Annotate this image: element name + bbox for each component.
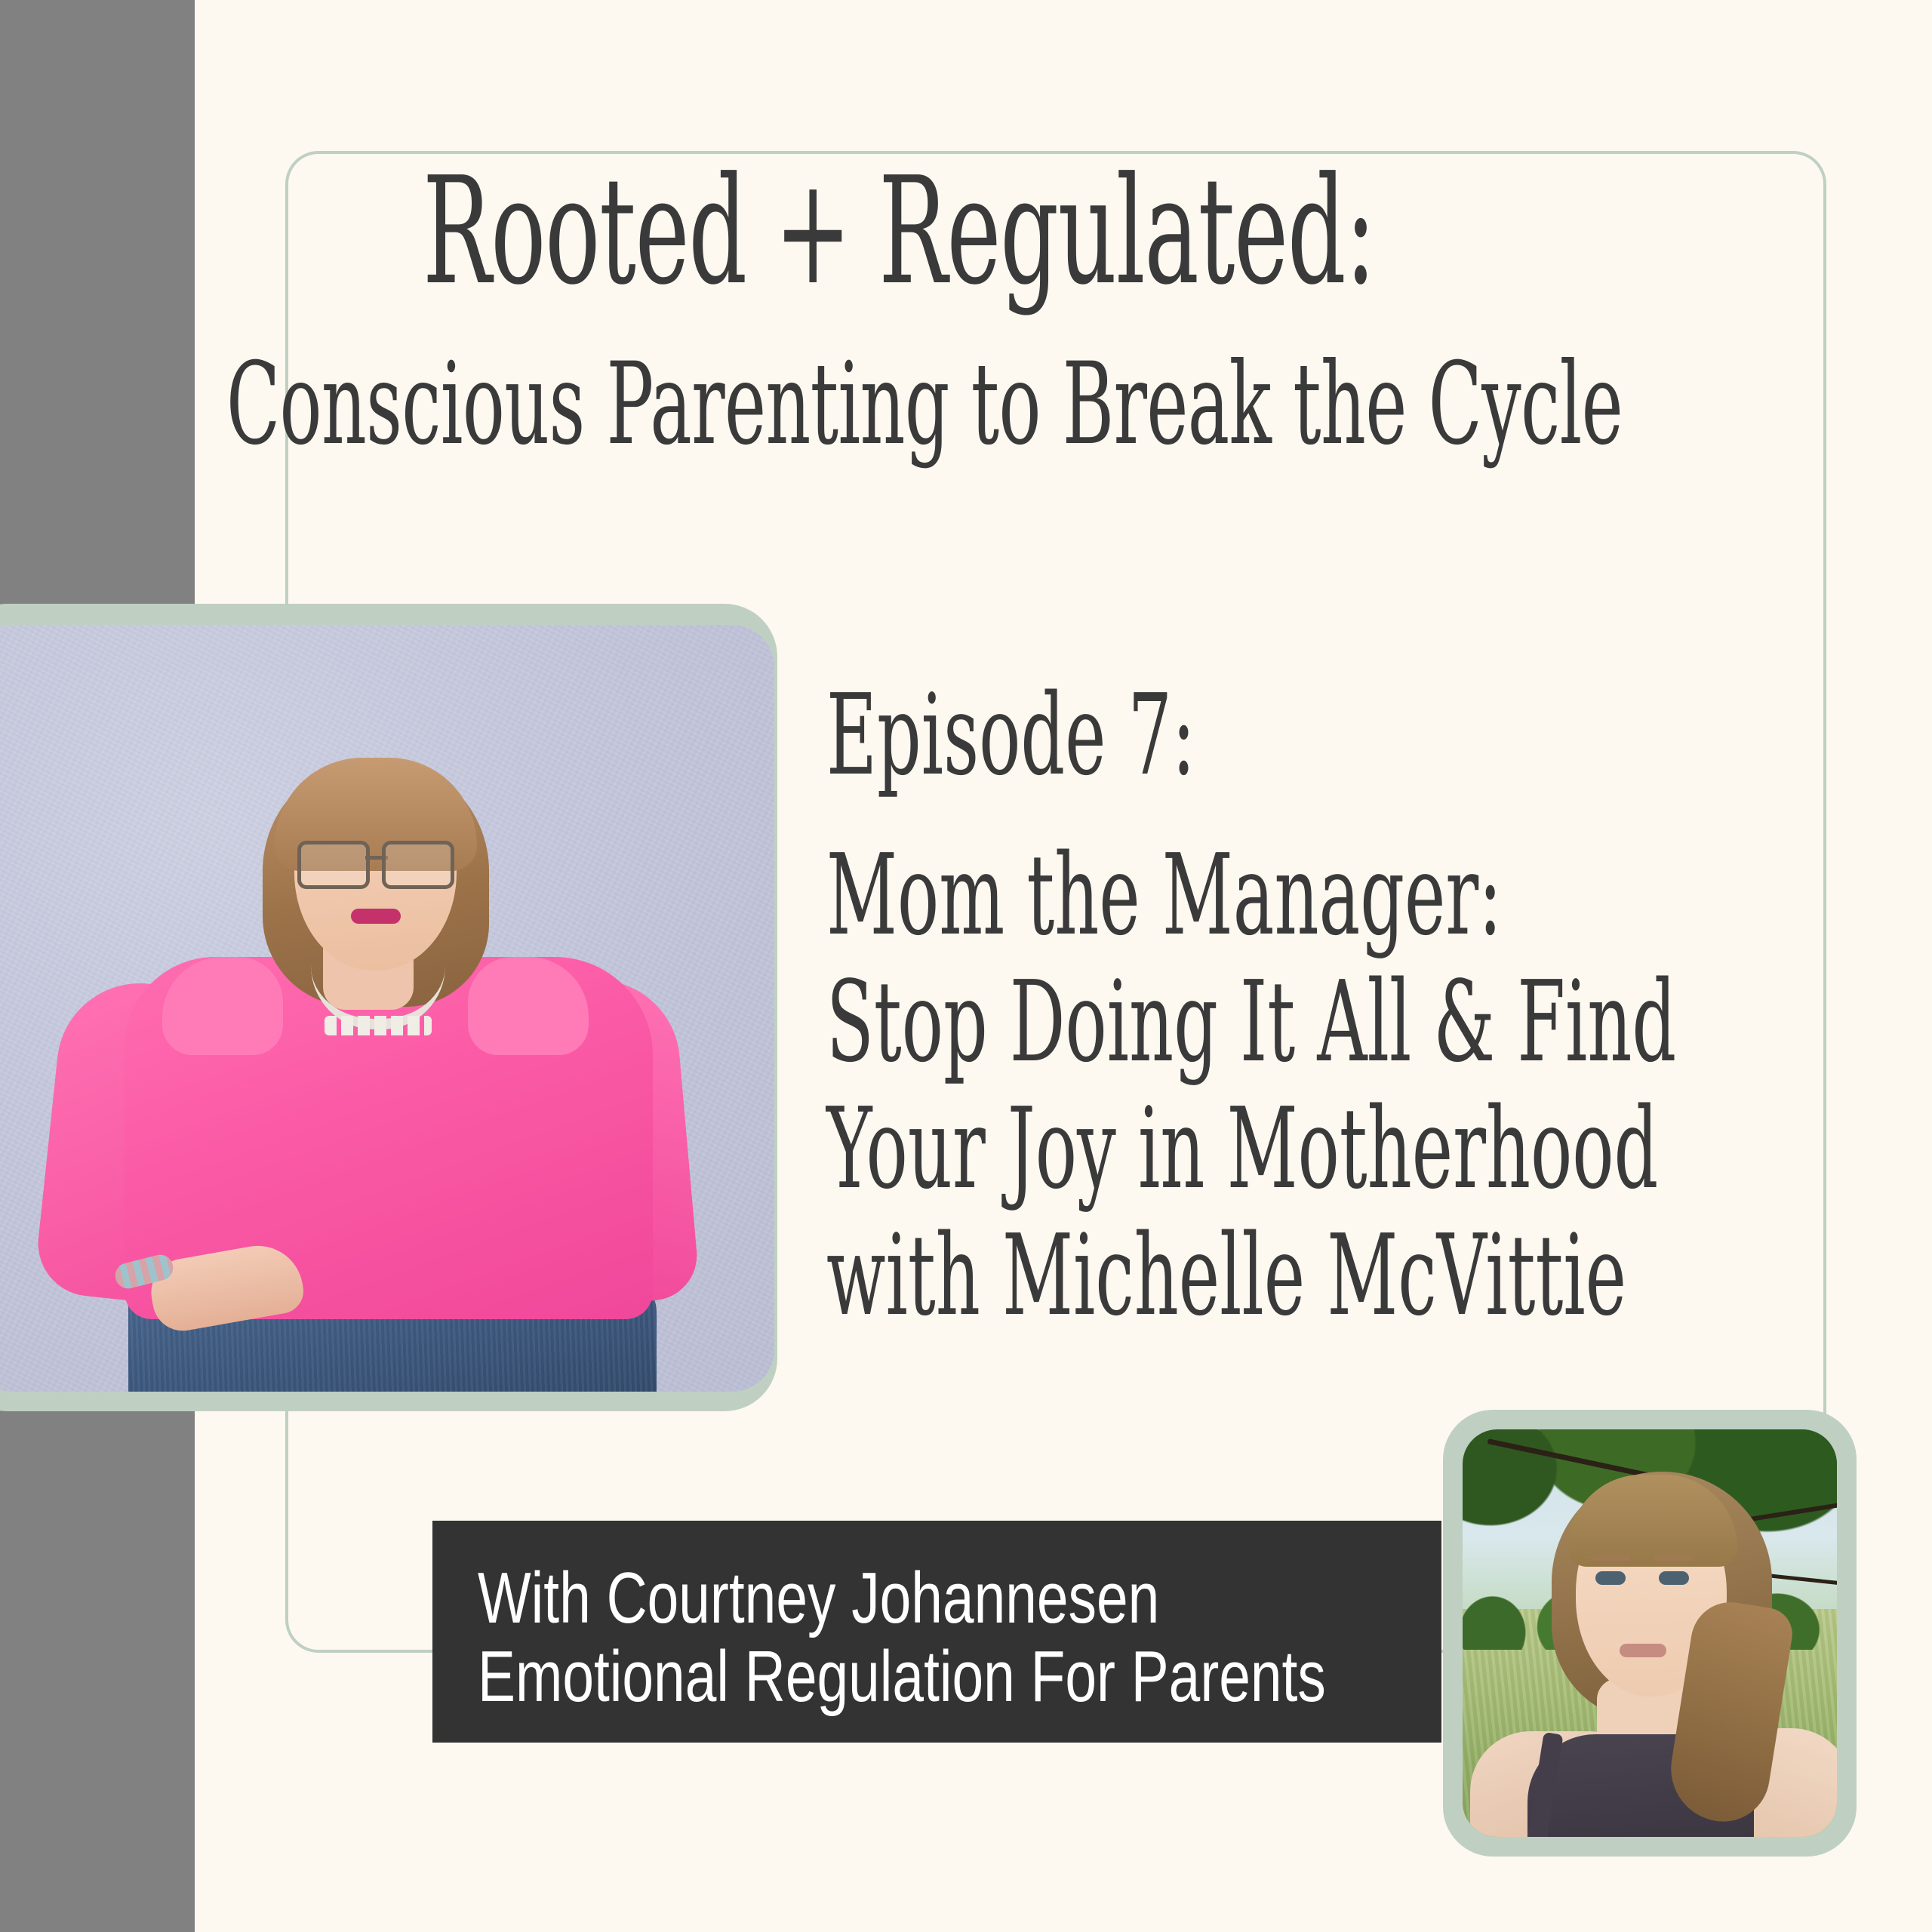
podcast-title-line1: Rooted + Regulated: bbox=[423, 157, 1312, 308]
episode-title-line4: with Michelle McVittie bbox=[826, 1220, 1481, 1333]
host-left-eyebrow bbox=[1591, 1555, 1630, 1561]
host-tagline-line: Emotional Regulation For Parents bbox=[478, 1640, 1220, 1714]
glasses-right-lens bbox=[382, 841, 454, 889]
glasses-left-lens bbox=[297, 841, 370, 889]
episode-title-line2: Stop Doing It All & Find bbox=[826, 966, 1481, 1079]
host-lips bbox=[1620, 1644, 1666, 1657]
host-name-line: With Courtney Johannesen bbox=[478, 1561, 1220, 1635]
host-left-eye bbox=[1595, 1571, 1626, 1585]
host-photo bbox=[1463, 1429, 1837, 1837]
episode-number-label: Episode 7: bbox=[826, 679, 1481, 792]
episode-title-line3: Your Joy in Motherhood bbox=[826, 1093, 1481, 1206]
guest-glasses bbox=[296, 841, 456, 881]
guest-necklace bbox=[311, 966, 445, 1029]
episode-title-line1: Mom the Manager: bbox=[826, 839, 1481, 952]
podcast-title-line2: Conscious Parenting to Break the Cycle bbox=[226, 347, 1349, 463]
guest-photo bbox=[0, 625, 774, 1392]
episode-info-block: Episode 7: Mom the Manager: Stop Doing I… bbox=[826, 679, 1883, 1333]
guest-lips bbox=[351, 909, 401, 924]
podcast-cover-canvas: Rooted + Regulated: Conscious Parenting … bbox=[0, 0, 1932, 1932]
host-right-eye bbox=[1659, 1571, 1689, 1585]
host-right-eyebrow bbox=[1654, 1555, 1694, 1561]
host-banner: With Courtney Johannesen Emotional Regul… bbox=[432, 1521, 1441, 1743]
